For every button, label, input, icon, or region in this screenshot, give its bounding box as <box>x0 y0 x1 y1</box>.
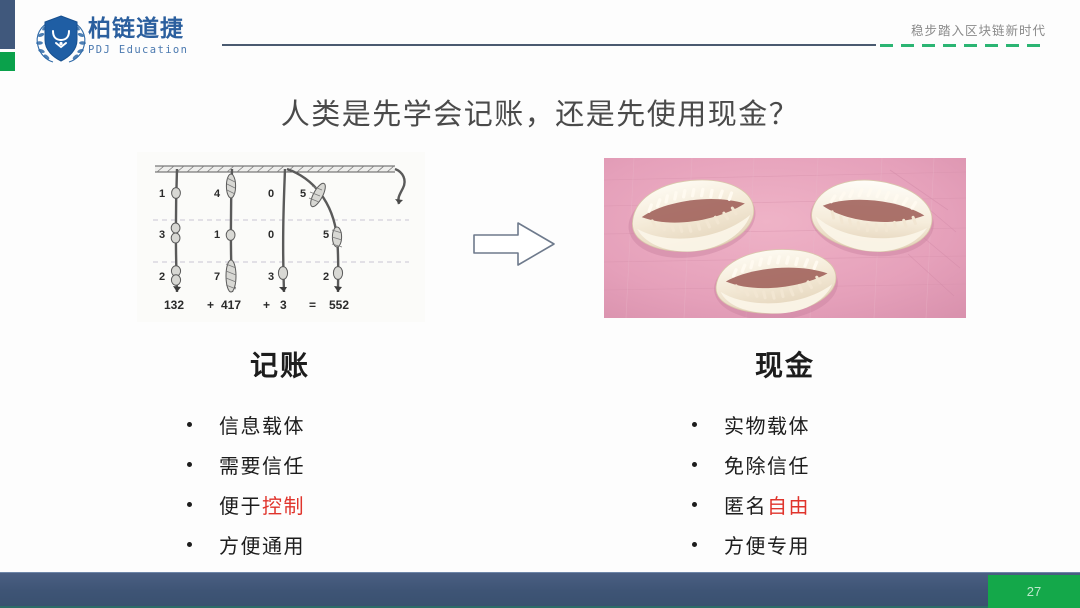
brand-logo-text: 柏链道捷 PDJ Education <box>88 16 212 56</box>
bullet-list: 实物载体 免除信任 匿名自由 方便专用 <box>620 404 950 564</box>
svg-text:3: 3 <box>268 271 274 283</box>
shield-bull-laurel-logo-icon <box>32 12 90 66</box>
header-divider-line <box>222 44 876 46</box>
bullet-label: 便于控制 <box>219 490 305 519</box>
footer-bar <box>0 572 1080 608</box>
list-item: 免除信任 <box>692 444 950 484</box>
svg-text:0: 0 <box>268 188 274 200</box>
bullet-label: 匿名自由 <box>724 490 810 519</box>
right-arrow-icon <box>470 216 560 272</box>
bullet-label: 免除信任 <box>724 450 810 479</box>
bullet-dot-icon <box>187 462 192 467</box>
edge-accent-green <box>0 52 15 71</box>
bullet-dot-icon <box>692 422 697 427</box>
column-accounting: 记账 信息载体 需要信任 便于控制 方便通用 <box>115 344 445 564</box>
list-item: 方便通用 <box>187 524 445 564</box>
bullet-label: 需要信任 <box>219 450 305 479</box>
page-number-badge: 27 <box>988 575 1080 608</box>
svg-text:+: + <box>207 298 214 312</box>
list-item: 方便专用 <box>692 524 950 564</box>
svg-text:5: 5 <box>300 188 306 200</box>
svg-text:1: 1 <box>159 188 165 200</box>
svg-text:2: 2 <box>159 271 165 283</box>
svg-text:2: 2 <box>323 271 329 283</box>
list-item: 需要信任 <box>187 444 445 484</box>
column-heading: 现金 <box>620 344 950 384</box>
svg-text:552: 552 <box>329 298 349 312</box>
svg-text:3: 3 <box>280 298 287 312</box>
quipu-knot-record-image: 1 3 2 4 1 7 0 0 3 <box>137 152 425 322</box>
svg-text:4: 4 <box>214 188 221 200</box>
column-cash: 现金 实物载体 免除信任 匿名自由 方便专用 <box>620 344 950 564</box>
cowrie-shells-image <box>604 158 966 318</box>
bullet-dot-icon <box>692 502 697 507</box>
list-item: 信息载体 <box>187 404 445 444</box>
svg-text:0: 0 <box>268 229 274 241</box>
list-item: 实物载体 <box>692 404 950 444</box>
svg-text:132: 132 <box>164 298 184 312</box>
bullet-label: 实物载体 <box>724 410 810 439</box>
bullet-label: 信息载体 <box>219 410 305 439</box>
list-item: 匿名自由 <box>692 484 950 524</box>
svg-text:+: + <box>263 298 270 312</box>
brand-name-en: PDJ Education <box>88 44 212 56</box>
svg-text:3: 3 <box>159 229 165 241</box>
svg-text:1: 1 <box>214 229 220 241</box>
bullet-dot-icon <box>187 422 192 427</box>
bullet-dot-icon <box>692 462 697 467</box>
header-dashed-line <box>880 44 1048 47</box>
bullet-label: 方便专用 <box>724 530 810 559</box>
brand-logo: 柏链道捷 PDJ Education <box>32 10 212 68</box>
bullet-dot-icon <box>692 542 697 547</box>
edge-accent-blue <box>0 0 15 49</box>
slide: 柏链道捷 PDJ Education 稳步踏入区块链新时代 人类是先学会记账，还… <box>0 0 1080 608</box>
svg-text:7: 7 <box>214 271 220 283</box>
bullet-dot-icon <box>187 502 192 507</box>
bullet-label: 方便通用 <box>219 530 305 559</box>
bullet-list: 信息载体 需要信任 便于控制 方便通用 <box>115 404 445 564</box>
bullet-dot-icon <box>187 542 192 547</box>
svg-text:=: = <box>309 298 316 312</box>
page-title: 人类是先学会记账，还是先使用现金？ <box>0 91 1080 133</box>
column-heading: 记账 <box>115 344 445 384</box>
brand-name-cn: 柏链道捷 <box>88 16 212 42</box>
svg-text:5: 5 <box>323 229 329 241</box>
list-item: 便于控制 <box>187 484 445 524</box>
svg-text:417: 417 <box>221 298 241 312</box>
header-tagline: 稳步踏入区块链新时代 <box>911 20 1046 39</box>
